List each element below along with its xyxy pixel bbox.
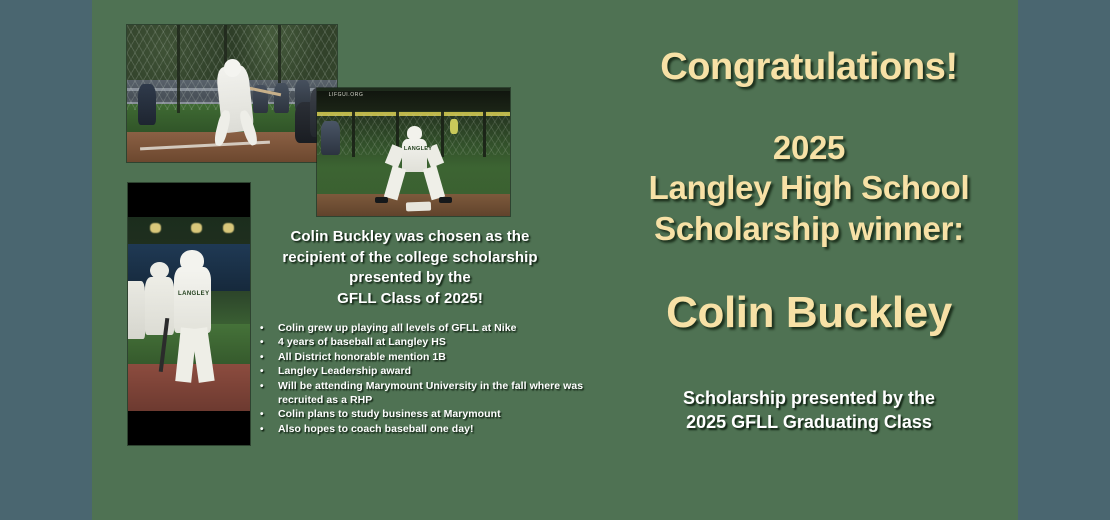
batting-photo [127,25,337,162]
list-item: • All District honorable mention 1B [260,351,590,365]
caption-line: recipient of the college scholarship [260,248,560,269]
scholarship-caption: Colin Buckley was chosen as the recipien… [260,227,560,310]
list-item-label: Colin grew up playing all levels of GFLL… [278,322,590,336]
list-item: • Will be attending Marymount University… [260,380,590,408]
letterbox-bar-top [128,183,250,217]
player-one-helmet [180,250,203,271]
presented-line: Scholarship presented by the [600,386,1018,410]
runner-helmet [407,126,422,140]
caption-line: presented by the [260,268,560,289]
runner-jersey-text: LANGLEY [404,146,432,152]
outfield-ad-text: LIFGUI.ORG [329,92,364,98]
bullet-marker-icon: • [260,365,278,378]
list-item-label: Colin plans to study business at Marymou… [278,408,590,422]
leadoff-photo-content: LIFGUI.ORG LANGLEY [317,88,510,216]
award-title: 2025 Langley High School Scholarship win… [600,128,1018,249]
runner-torso [402,139,427,172]
caption-line: GFLL Class of 2025! [260,289,560,310]
outfielder-figure [450,119,458,134]
bullet-marker-icon: • [260,380,278,393]
list-item: • 4 years of baseball at Langley HS [260,336,590,350]
fence-post-c [441,111,444,157]
runner-cleat-right [439,197,453,203]
bullet-marker-icon: • [260,423,278,436]
base-coach-figure [321,121,340,154]
bullet-marker-icon: • [260,351,278,364]
spectator-2 [274,83,289,113]
slide-canvas-stage: LIFGUI.ORG LANGLEY [0,0,1110,520]
letterbox-bar-bottom [128,411,250,445]
running-photo-content: LANGLEY [128,183,250,445]
fence-post-1 [177,25,180,113]
congratulations-heading: Congratulations! [600,46,1018,89]
award-column: Congratulations! 2025 Langley High Schoo… [600,0,1018,520]
list-item: • Also hopes to coach baseball one day! [260,423,590,437]
leadoff-photo: LIFGUI.ORG LANGLEY [317,88,510,216]
list-item-label: 4 years of baseball at Langley HS [278,336,590,350]
field-light-2 [191,223,202,233]
winner-name: Colin Buckley [600,288,1018,338]
list-item: • Langley Leadership award [260,365,590,379]
base-bag [406,202,431,212]
batting-photo-content [127,25,337,162]
fence-post-a [352,111,355,157]
list-item: • Colin plans to study business at Marym… [260,408,590,422]
award-year: 2025 [600,128,1018,168]
player-one-jersey-text: LANGLEY [178,291,209,297]
bullet-marker-icon: • [260,408,278,421]
running-photo: LANGLEY [128,183,250,445]
list-item: • Colin grew up playing all levels of GF… [260,322,590,336]
player-one-torso [174,267,211,333]
list-item-label: Langley Leadership award [278,365,590,379]
award-school: Langley High School [600,168,1018,208]
list-item-label: Also hopes to coach baseball one day! [278,423,590,437]
player-two-torso [145,277,174,335]
bullet-marker-icon: • [260,336,278,349]
list-item-label: All District honorable mention 1B [278,351,590,365]
achievements-list: • Colin grew up playing all levels of GF… [260,322,590,437]
field-light-1 [150,223,161,233]
player-three-torso [128,281,145,339]
list-item-label: Will be attending Marymount University i… [278,380,590,408]
coach-figure [138,84,157,125]
presented-line: 2025 GFLL Graduating Class [600,410,1018,434]
runner-cleat-left [375,197,389,203]
caption-line: Colin Buckley was chosen as the [260,227,560,248]
presented-by-text: Scholarship presented by the 2025 GFLL G… [600,386,1018,435]
dugout-scene: LANGLEY [128,217,250,411]
bullet-marker-icon: • [260,322,278,335]
presentation-slide: LIFGUI.ORG LANGLEY [92,0,1018,520]
fence-post-d [483,111,486,157]
award-subtitle: Scholarship winner: [600,209,1018,249]
field-light-3 [223,223,234,233]
